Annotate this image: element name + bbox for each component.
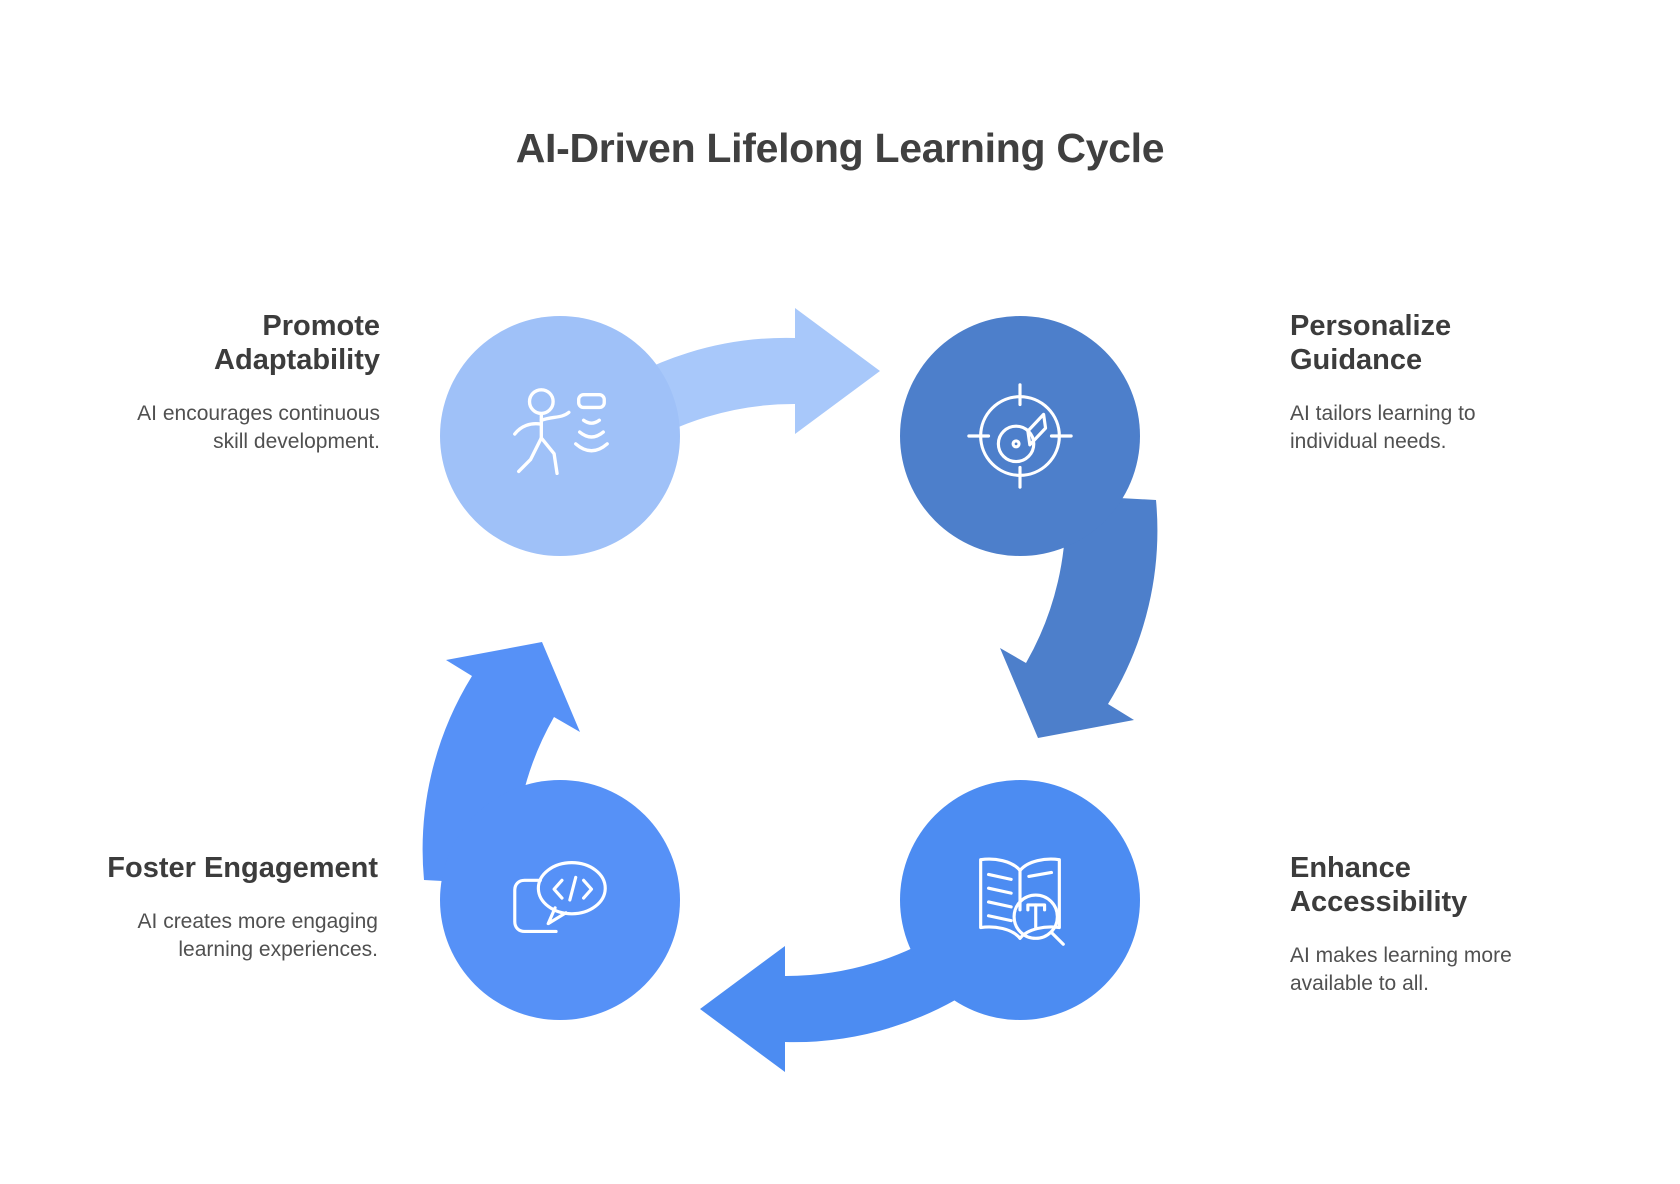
- target-compass-icon: [961, 377, 1079, 495]
- node-foster-engagement[interactable]: [440, 780, 680, 1020]
- heading-promote-adaptability: Promote Adaptability: [40, 310, 380, 378]
- node-promote-adaptability[interactable]: [440, 316, 680, 556]
- node-enhance-accessibility[interactable]: [900, 780, 1140, 1020]
- walking-person-signal-icon: [501, 377, 619, 495]
- text-block-personalize-guidance: Personalize Guidance AI tailors learning…: [1290, 310, 1630, 456]
- cycle-diagram: [340, 260, 1240, 1120]
- description-personalize-guidance: AI tailors learning to individual needs.: [1290, 400, 1630, 456]
- description-enhance-accessibility: AI makes learning more available to all.: [1290, 942, 1630, 998]
- infographic-page: AI-Driven Lifelong Learning Cycle: [0, 0, 1680, 1184]
- description-foster-engagement: AI creates more engaging learning experi…: [38, 908, 378, 964]
- node-personalize-guidance[interactable]: [900, 316, 1140, 556]
- chat-code-bubble-icon: [501, 841, 619, 959]
- heading-enhance-accessibility: Enhance Accessibility: [1290, 852, 1630, 920]
- text-block-enhance-accessibility: Enhance Accessibility AI makes learning …: [1290, 852, 1630, 998]
- heading-foster-engagement: Foster Engagement: [38, 852, 378, 886]
- text-block-foster-engagement: Foster Engagement AI creates more engagi…: [38, 852, 378, 964]
- open-book-magnifier-icon: [961, 841, 1079, 959]
- page-title: AI-Driven Lifelong Learning Cycle: [0, 125, 1680, 172]
- text-block-promote-adaptability: Promote Adaptability AI encourages conti…: [40, 310, 380, 456]
- description-promote-adaptability: AI encourages continuous skill developme…: [40, 400, 380, 456]
- heading-personalize-guidance: Personalize Guidance: [1290, 310, 1630, 378]
